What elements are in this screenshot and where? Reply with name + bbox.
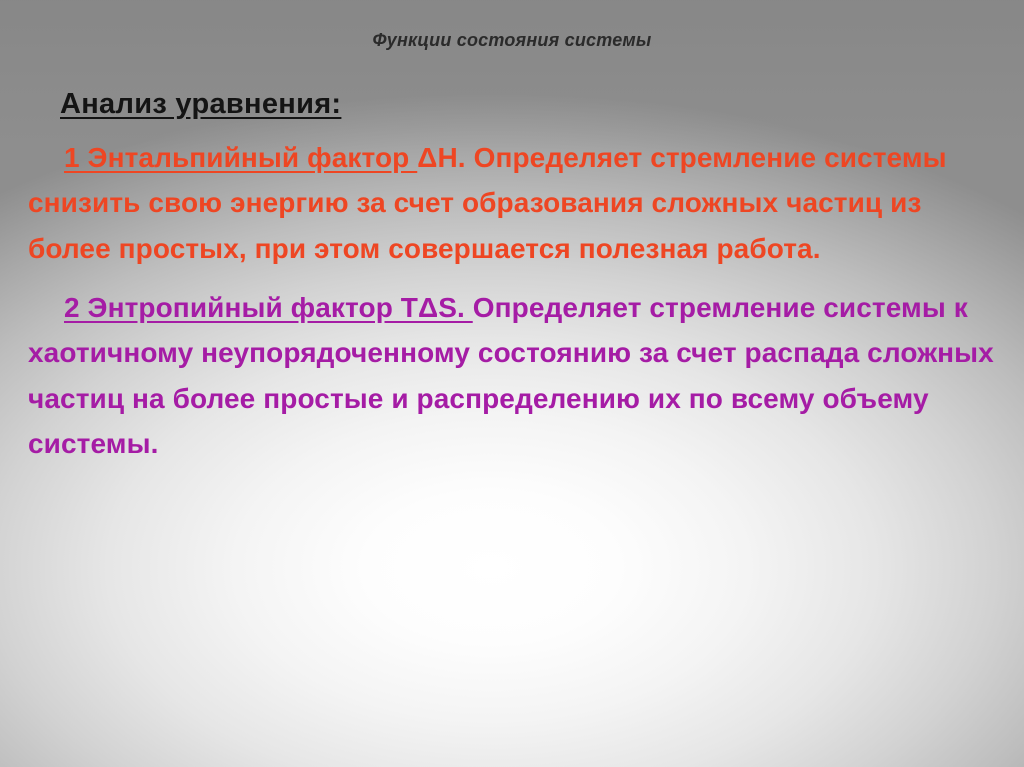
slide-canvas: Функции состояния системы Анализ уравнен… <box>0 0 1024 767</box>
enthalpy-symbol: ΔH. <box>417 142 465 173</box>
paragraph-enthalpy-factor: 1 Энтальпийный фактор ΔH. Определяет стр… <box>28 135 1000 271</box>
enthalpy-factor-label: 1 Энтальпийный фактор <box>64 142 417 173</box>
slide-content-body: Анализ уравнения: 1 Энтальпийный фактор … <box>28 88 1000 471</box>
paragraph-entropy-factor: 2 Энтропийный фактор TΔS. Определяет стр… <box>28 285 1000 466</box>
entropy-factor-label: 2 Энтропийный фактор TΔS. <box>64 292 473 323</box>
slide-title: Функции состояния системы <box>0 30 1024 51</box>
page-title: Анализ уравнения: <box>60 88 1000 121</box>
